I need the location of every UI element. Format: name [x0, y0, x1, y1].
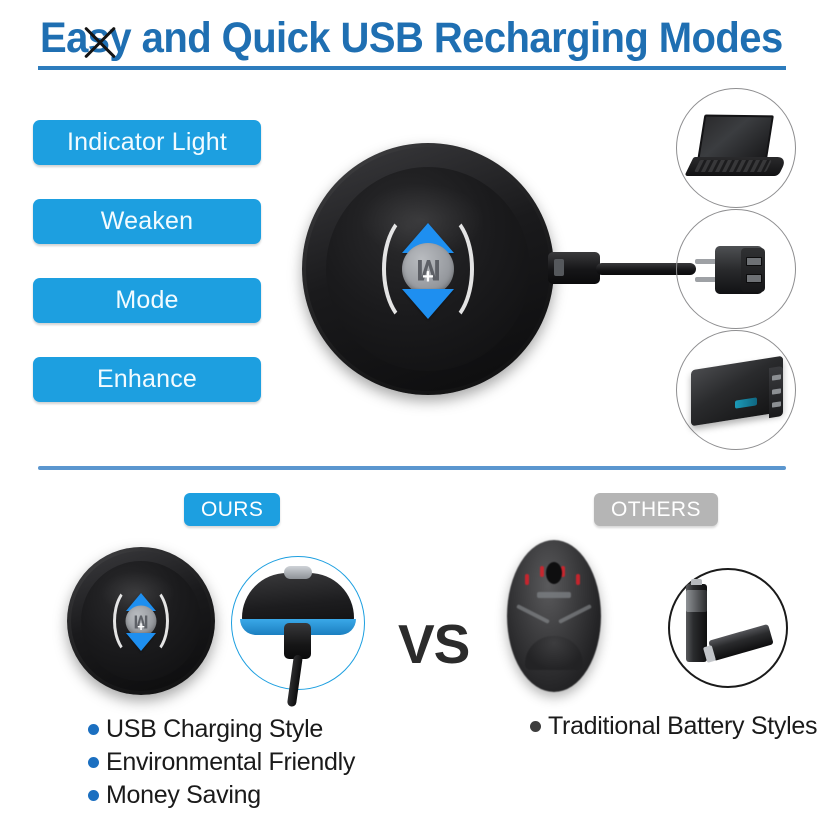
adapter-prong-bottom: [695, 277, 717, 282]
bullet-dot-icon: [88, 790, 99, 801]
increase-sign: +: [422, 267, 434, 287]
competitor-led-2: [540, 566, 544, 577]
feature-label-text: Indicator Light: [67, 128, 227, 157]
laptop-icon: [689, 115, 785, 181]
competitor-led-4: [576, 574, 580, 585]
usb-charging-detail: [231, 556, 365, 690]
feature-label-text: Enhance: [97, 365, 197, 394]
usb-connector-icon: [284, 623, 311, 659]
massager-device-mini: - M +: [67, 547, 215, 695]
title-underline: [38, 66, 786, 70]
list-item-label: Traditional Battery Styles: [548, 712, 817, 741]
adapter-prong-top: [695, 259, 717, 264]
feature-box-indicator-light[interactable]: Indicator Light: [33, 120, 261, 165]
feature-box-mode[interactable]: Mode: [33, 278, 261, 323]
competitor-device: [507, 540, 601, 692]
device-top-cap: [284, 566, 312, 579]
feature-label-text: Weaken: [101, 207, 193, 236]
list-item-label: USB Charging Style: [106, 715, 323, 744]
massager-device-hero: - M +: [302, 143, 554, 395]
competitor-led-1: [525, 574, 529, 585]
adapter-usb-port-bottom: [746, 274, 762, 283]
others-drawback-list: Traditional Battery Styles: [530, 712, 817, 745]
power-bank-icon: [691, 363, 783, 419]
competitor-lower-body: [525, 636, 583, 670]
weaken-arrow-down-icon[interactable]: [402, 289, 454, 319]
feature-label-text: Mode: [115, 286, 178, 315]
list-item: Traditional Battery Styles: [530, 712, 817, 741]
feature-box-weaken[interactable]: Weaken: [33, 199, 261, 244]
ours-benefit-list: USB Charging Style Environmental Friendl…: [88, 715, 355, 814]
increase-sign: +: [137, 620, 145, 633]
feature-box-enhance[interactable]: Enhance: [33, 357, 261, 402]
wall-adapter-icon: [693, 246, 785, 294]
page-title: Easy and Quick USB Recharging Modes: [0, 14, 823, 62]
charging-source-power-bank: [676, 330, 796, 450]
list-item: USB Charging Style: [88, 715, 355, 744]
adapter-port-face: [741, 248, 765, 292]
ours-tag-label: OURS: [201, 498, 263, 522]
list-item-label: Money Saving: [106, 781, 261, 810]
others-tag-label: OTHERS: [611, 498, 701, 522]
battery-lying: [708, 624, 773, 661]
competitor-wing-left: [516, 604, 550, 624]
usb-plug-icon: [548, 252, 600, 284]
bullet-dot-icon: [530, 721, 541, 732]
charging-source-wall-adapter: [676, 209, 796, 329]
device-face: - M +: [326, 167, 530, 371]
versus-label: VS: [398, 612, 469, 676]
feature-label-list: Indicator Light Weaken Mode Enhance: [33, 120, 261, 402]
adapter-usb-port-top: [746, 257, 762, 266]
list-item-label: Environmental Friendly: [106, 748, 355, 777]
cross-out-x-icon: [79, 22, 121, 64]
list-item: Money Saving: [88, 781, 355, 810]
section-divider: [38, 466, 786, 470]
bullet-dot-icon: [88, 724, 99, 735]
battery-standing-label: [686, 590, 707, 612]
bullet-dot-icon: [88, 757, 99, 768]
others-tag: OTHERS: [594, 493, 718, 526]
charging-source-laptop: [676, 88, 796, 208]
weaken-arrow-down-icon: [126, 633, 156, 651]
battery-standing-terminal: [691, 579, 702, 585]
infographic-page: Easy and Quick USB Recharging Modes Indi…: [0, 0, 823, 823]
ours-tag: OURS: [184, 493, 280, 526]
disposable-batteries: [668, 568, 788, 688]
competitor-top-recess: [546, 562, 562, 584]
usb-cord: [287, 654, 303, 707]
device-face: - M +: [81, 561, 201, 681]
list-item: Environmental Friendly: [88, 748, 355, 777]
laptop-keyboard: [694, 160, 772, 172]
competitor-wing-right: [558, 604, 592, 624]
page-title-text: Easy and Quick USB Recharging Modes: [40, 14, 783, 62]
competitor-bar: [537, 592, 571, 598]
